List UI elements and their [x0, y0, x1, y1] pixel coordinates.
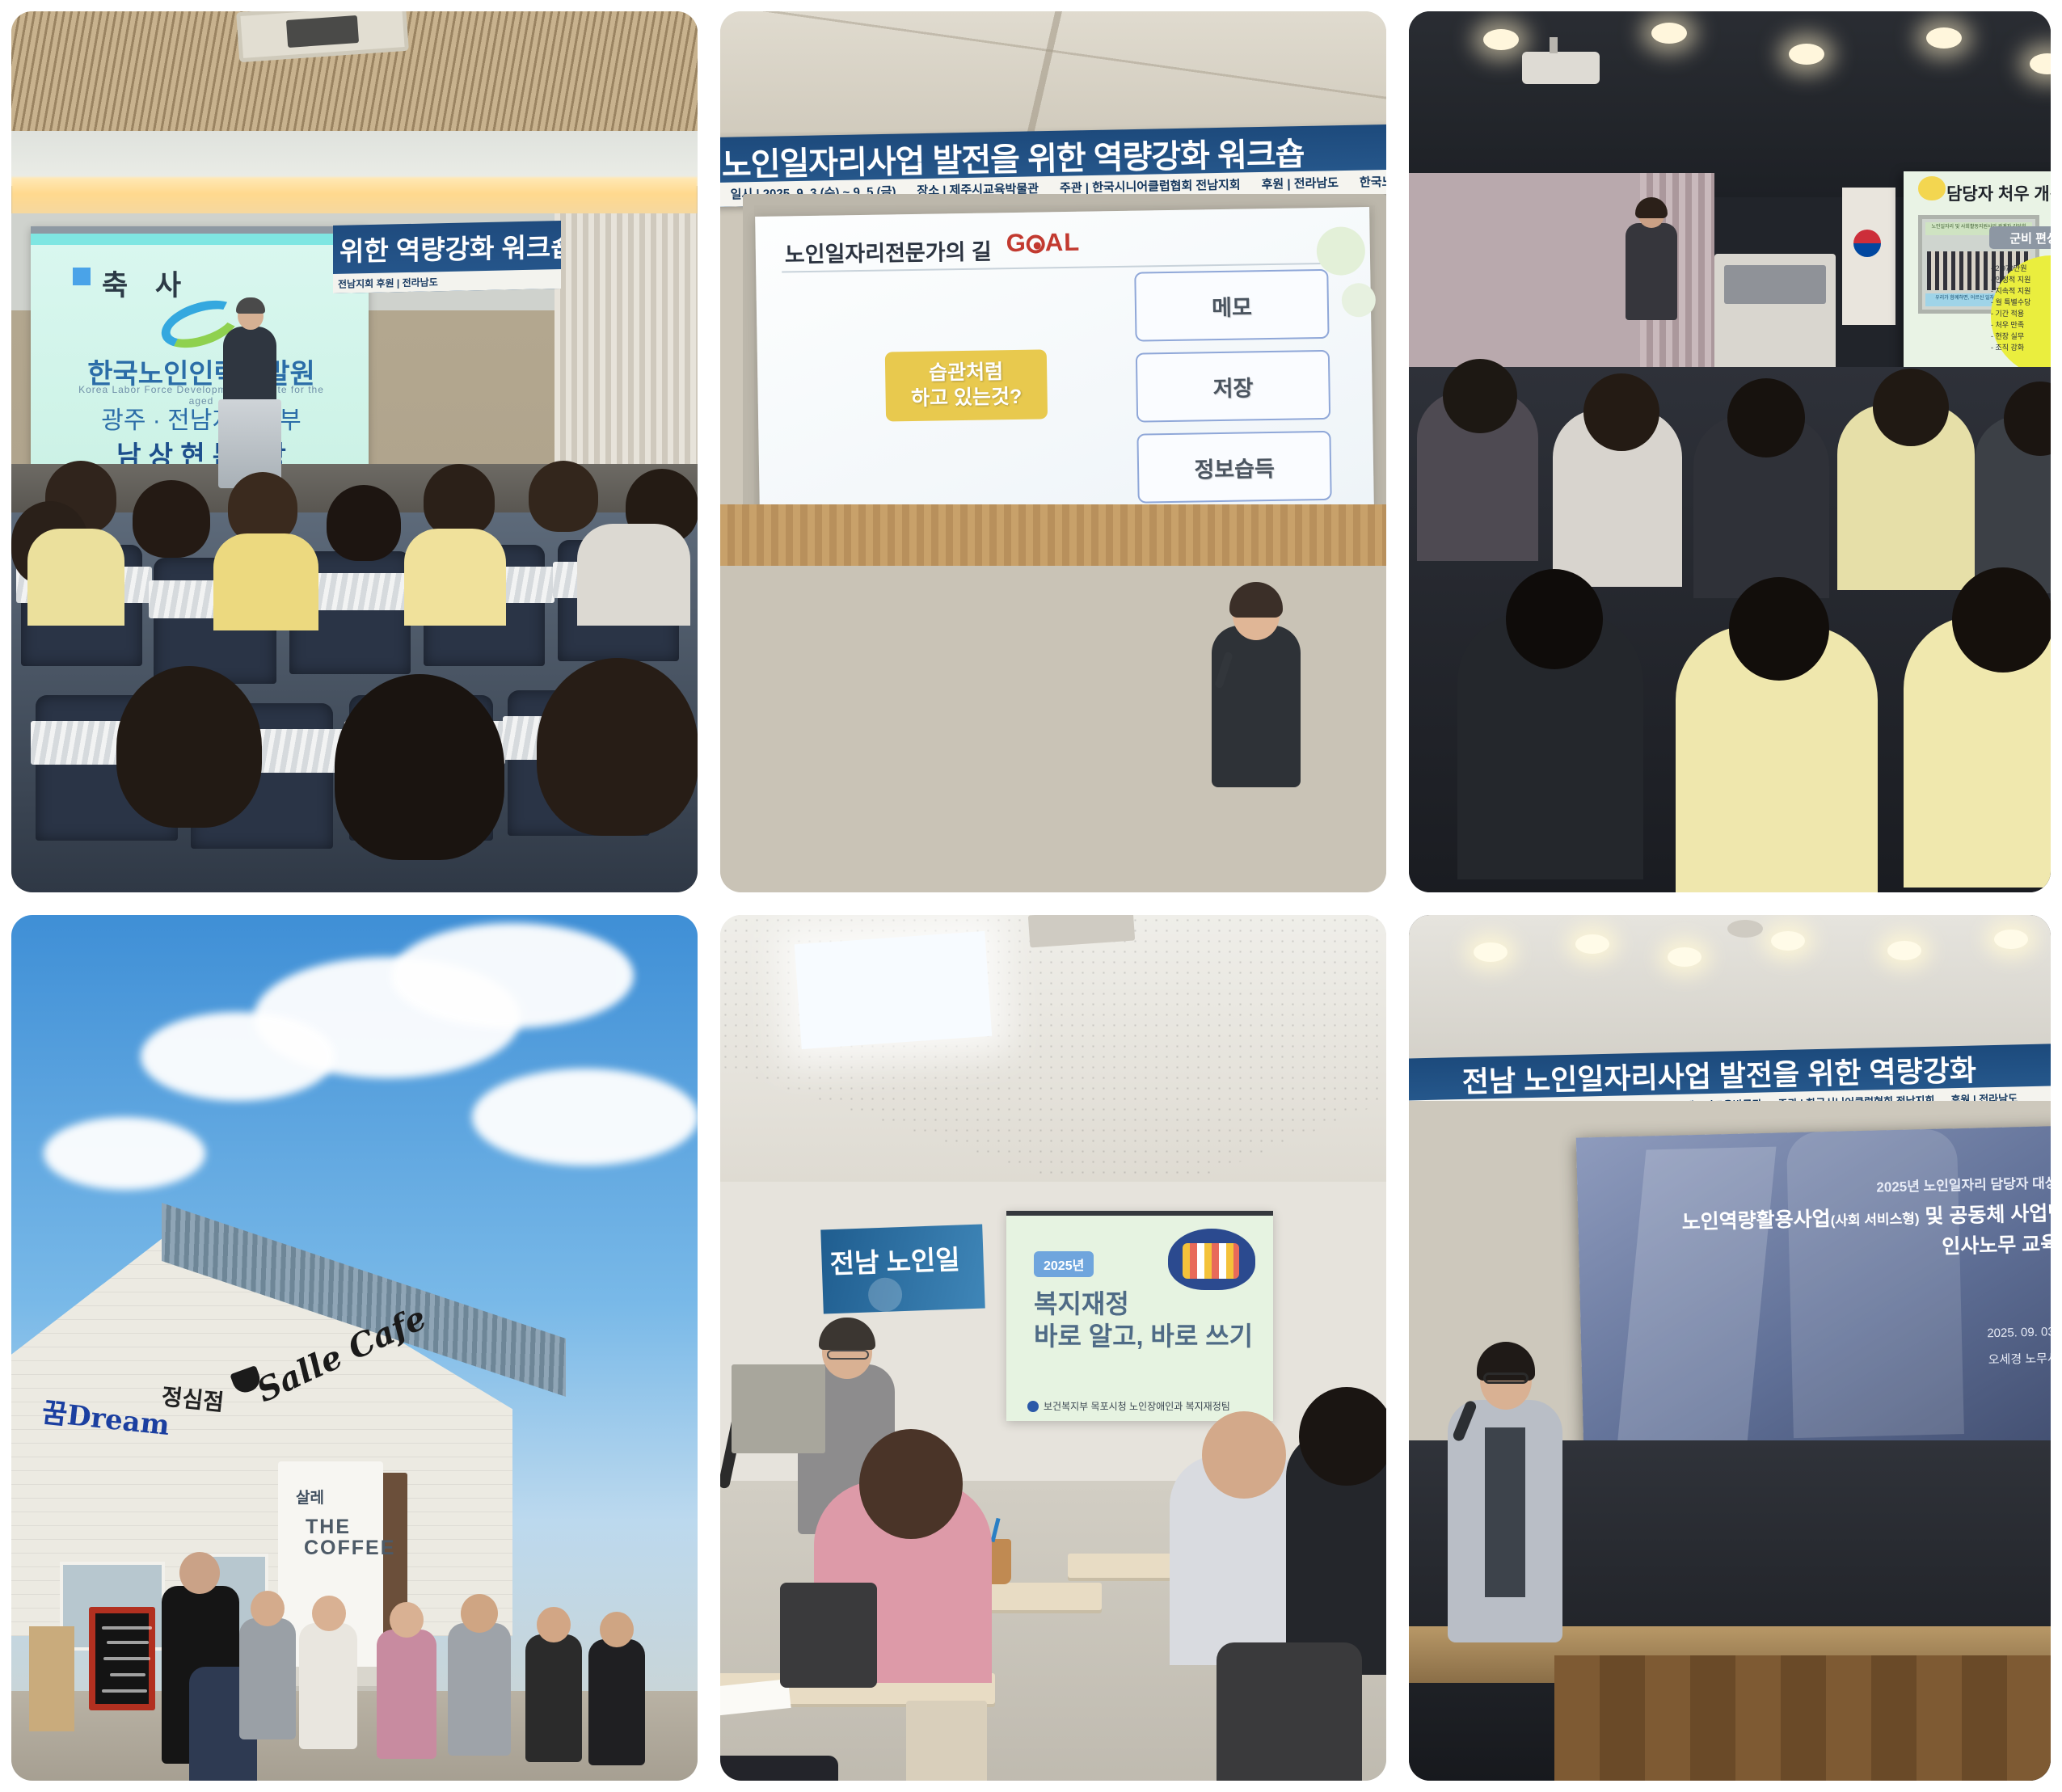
- ministry-emblem-icon: [1027, 1401, 1039, 1412]
- visitor-head: [390, 1602, 424, 1638]
- visitor-figure: [448, 1623, 511, 1756]
- supply-crates: [29, 1626, 74, 1731]
- slide-branch-name: 광주 · 전남지역본부: [68, 400, 335, 436]
- ceiling-light: [1994, 930, 2028, 949]
- slide-section-label: 군비 편성: [1989, 226, 2051, 249]
- presentation-slide: 2025년 노인일자리 담당자 대상 노인역량활용사업(사회 서비스형) 및 공…: [1576, 1125, 2051, 1485]
- bullet-item: - 지속적 지원: [1991, 286, 2051, 297]
- ceiling-light: [1575, 934, 1609, 954]
- bullet-item: - 안정적 지원: [1991, 275, 2051, 286]
- presenter-glasses-icon: [1483, 1372, 1529, 1384]
- banner-host: 주관 | 한국시니어클럽협회 전남지회: [1060, 178, 1241, 195]
- footer-text: 보건복지부 목포시청 노인장애인과 복지재정팀: [1044, 1401, 1230, 1412]
- ceiling-light: [1668, 947, 1701, 967]
- attendee-head: [424, 464, 495, 537]
- title-tail-part: 및 공동체 사업단: [1919, 1202, 2051, 1228]
- collage-cell-6: 전남 노인일자리사업 발전을 위한 역량강화 일시 | 2025. 9. 3.(…: [1398, 904, 2062, 1792]
- ceiling-light: [1887, 941, 1921, 960]
- attendee-shoulders: [27, 529, 124, 626]
- wall-banner: 전남 노인일: [820, 1225, 985, 1314]
- lectern-table: [732, 1364, 825, 1453]
- wood-wainscot: [720, 504, 1386, 569]
- building-graphic: [1615, 1147, 1777, 1471]
- collage-cell-2: 노인일자리사업 발전을 위한 역량강화 워크숍 일시 | 2025. 9. 3.…: [709, 0, 1398, 904]
- sign-store-name: 정심점: [160, 1379, 226, 1418]
- ceiling-light: [1474, 942, 1507, 962]
- slide-option-box: 정보습득: [1136, 431, 1331, 504]
- attendee-shoulders: [213, 533, 318, 630]
- collage-cell-4: 꿈Dream 정심점 Salle Cafe 살레 THE COFFEE: [0, 904, 709, 1792]
- projection-screen: 2025년 복지재정 바로 알고, 바로 쓰기 보건복지부 목포시청 노인장애인…: [1006, 1211, 1273, 1421]
- visitor-figure: [525, 1634, 582, 1762]
- ceiling-light: [1651, 23, 1687, 44]
- ceiling-light: [1483, 29, 1519, 50]
- student-head: [859, 1429, 963, 1539]
- slide-option-box: 메모: [1134, 269, 1329, 342]
- attendee-head: [228, 472, 297, 543]
- attendee-head: [1952, 567, 2051, 673]
- attendee-head: [116, 666, 262, 828]
- highlight-line-2: 하고 있는것?: [911, 385, 1023, 411]
- banner-main-text: 위한 역량강화 워크숍: [339, 226, 561, 269]
- photo-classroom-training: 전남 노인일 2025년 복지재정 바로 알고, 바로 쓰기 보건복지부 목포시…: [720, 915, 1386, 1781]
- projection-screen: 축 사 한국노인인력개발원 Korea Labor Force Developm…: [31, 226, 369, 469]
- attendee-head: [1583, 373, 1659, 451]
- presenter-body: [1212, 626, 1301, 787]
- attendee-head: [1506, 569, 1603, 669]
- cloud: [141, 1012, 335, 1101]
- visitor-head: [600, 1612, 634, 1647]
- speaker-figure: [223, 327, 276, 407]
- ceiling-light-panel: [795, 931, 992, 1049]
- decorative-bubble-icon: [1342, 283, 1377, 318]
- banner-sub-text: 전남지회 후원 | 전라남도: [338, 275, 438, 291]
- attendee-head: [1443, 359, 1517, 433]
- photo-collage: 축 사 한국노인인력개발원 Korea Labor Force Developm…: [0, 0, 2062, 1792]
- entry-sign-english: THE COFFEE: [304, 1516, 352, 1559]
- slide-footer-org: 보건복지부 목포시청 노인장애인과 복지재정팀: [1027, 1399, 1230, 1413]
- photo-main-screen-lecture: 노인일자리사업 발전을 위한 역량강화 워크숍 일시 | 2025. 9. 3.…: [720, 11, 1386, 892]
- cloud: [391, 923, 634, 1028]
- auditorium-seating: [1554, 1655, 2051, 1781]
- goal-logo-icon: GAL: [1006, 228, 1080, 258]
- bullet-item: - 기간 적용: [1991, 309, 2051, 320]
- chair: [780, 1583, 877, 1688]
- attendee-shoulders: [404, 529, 506, 626]
- banner-decorative-circle: [867, 1277, 902, 1312]
- title-main-part: 노인역량활용사업: [1681, 1208, 1831, 1233]
- presenter-inner-shirt: [1485, 1427, 1525, 1597]
- collage-cell-1: 축 사 한국노인인력개발원 Korea Labor Force Developm…: [0, 0, 709, 904]
- slide-presenter: 오세경 노무사: [1988, 1349, 2051, 1368]
- slide-bullet-list: - 2,970만원 - 안정적 지원 - 지속적 지원 - 월 특별수당 - 기…: [1991, 264, 2051, 354]
- cloud: [472, 1069, 698, 1166]
- bullet-item: - 2,970만원: [1991, 264, 2051, 275]
- presentation-slide: 노인일자리전문가의 길 GAL 습관처럼 하고 있는것? 메모 저장 정보습득: [755, 207, 1374, 517]
- visitor-figure: [588, 1639, 645, 1765]
- ceiling-speaker: [1727, 920, 1763, 938]
- visitor-head: [537, 1607, 571, 1642]
- presenter-body: [1448, 1400, 1562, 1642]
- bullet-item: - 조직 강화: [1991, 343, 2051, 354]
- attendee-head: [1299, 1387, 1386, 1486]
- korean-flag-icon: [1842, 188, 1895, 325]
- visitor-head: [461, 1594, 498, 1633]
- decorative-bubble-icon: [1316, 226, 1365, 276]
- slide-title: 담당자 처우 개선: [1946, 181, 2051, 205]
- ceiling-light: [1926, 27, 1962, 48]
- highlight-line-1: 습관처럼: [929, 360, 1003, 386]
- workshop-banner: 위한 역량강화 워크숍 전남지회 후원 | 전라남도: [333, 221, 561, 293]
- banner-text: 전남 노인일: [829, 1238, 961, 1282]
- attendee-head: [529, 461, 598, 532]
- attendee-shoulders: [577, 524, 690, 626]
- bullet-item: - 처우 만족: [1991, 320, 2051, 331]
- banner-partner: 한국노인인력개발원: [1360, 174, 1386, 189]
- slide-bullet-icon: [73, 268, 91, 285]
- backpack: [720, 1756, 838, 1781]
- slide-year-badge: 2025년: [1034, 1251, 1094, 1277]
- tote-bag: [906, 1701, 987, 1781]
- brand-ko-char: 꿈: [40, 1397, 69, 1431]
- visitor-figure: [377, 1630, 436, 1759]
- slide-title-line-2: 바로 알고, 바로 쓰기: [1034, 1316, 1253, 1353]
- collage-cell-5: 전남 노인일 2025년 복지재정 바로 알고, 바로 쓰기 보건복지부 목포시…: [709, 904, 1398, 1792]
- attendee-head: [335, 674, 504, 860]
- chair: [1217, 1642, 1362, 1781]
- slide-section-label: 축 사: [102, 263, 191, 304]
- attendee-head: [1729, 577, 1829, 681]
- slide-title: 노인일자리전문가의 길: [785, 234, 992, 268]
- entry-sign-korean: 살레: [296, 1486, 324, 1507]
- attendee-head: [1727, 378, 1805, 457]
- bullet-item: - 월 특별수당: [1991, 297, 2051, 309]
- visitor-figure: [239, 1618, 296, 1739]
- ceiling-projector: [1522, 52, 1600, 84]
- slide-eyebrow: 2025년 노인일자리 담당자 대상: [1876, 1171, 2051, 1195]
- slide-option-box: 저장: [1136, 350, 1330, 423]
- attendee-head: [1873, 369, 1949, 446]
- chalkboard-sign: [89, 1607, 155, 1710]
- photo-audience-rear-view: 담당자 처우 개선 노인일자리 및 사회활동지원사업 관계자 간담회 우리가 함…: [1409, 11, 2051, 892]
- visitor-figure: [299, 1623, 357, 1749]
- visitor-head: [179, 1552, 220, 1594]
- attendee-head: [537, 658, 698, 836]
- slide-date: 2025. 09. 03.: [1987, 1325, 2051, 1340]
- people-illustration-icon: [1168, 1229, 1255, 1290]
- photo-opening-ceremony: 축 사 한국노인인력개발원 Korea Labor Force Developm…: [11, 11, 698, 892]
- cloud: [44, 1117, 205, 1190]
- attendee-head: [1202, 1411, 1286, 1499]
- title-paren-part: (사회 서비스형): [1830, 1211, 1919, 1229]
- lemon-illustration-icon: [1918, 176, 1946, 200]
- visitor-head: [251, 1591, 285, 1626]
- ceiling-light: [1789, 44, 1824, 65]
- bullet-item: - 현장 실무: [1991, 331, 2051, 343]
- photo-cafe-exterior: 꿈Dream 정심점 Salle Cafe 살레 THE COFFEE: [11, 915, 698, 1781]
- banner-sponsor: 후원 | 전라남도: [1261, 176, 1339, 192]
- instructor-glasses-icon: [827, 1350, 869, 1360]
- projection-screen: 담당자 처우 개선 노인일자리 및 사회활동지원사업 관계자 간담회 우리가 함…: [1904, 171, 2051, 386]
- collage-cell-3: 담당자 처우 개선 노인일자리 및 사회활동지원사업 관계자 간담회 우리가 함…: [1398, 0, 2062, 904]
- attendee-head: [133, 480, 210, 558]
- slide-highlight-box: 습관처럼 하고 있는것?: [885, 349, 1048, 421]
- stage-curtain: [555, 213, 698, 480]
- ceiling-light: [1771, 931, 1805, 951]
- presenter-figure: [1626, 223, 1677, 320]
- photo-labor-law-lecture: 전남 노인일자리사업 발전을 위한 역량강화 일시 | 2025. 9. 3.(…: [1409, 915, 2051, 1781]
- slide-title-line-2: 인사노무 교육: [1942, 1228, 2051, 1260]
- attendee-head: [327, 485, 401, 561]
- visitor-head: [312, 1596, 346, 1631]
